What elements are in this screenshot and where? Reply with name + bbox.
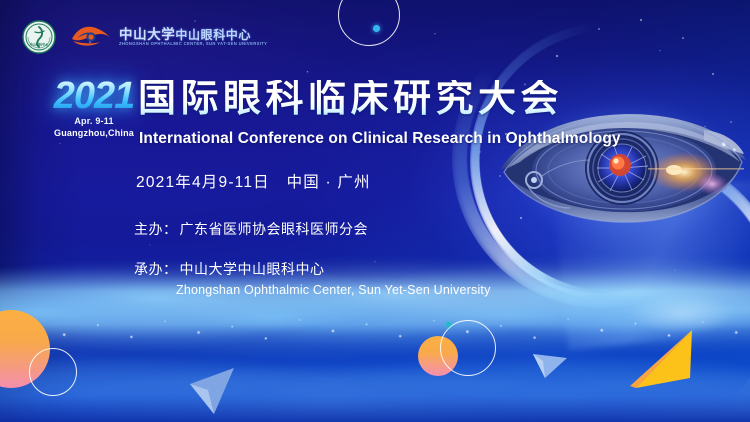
page-subtitle: International Conference on Clinical Res… <box>139 130 621 148</box>
triangle-right-yellow-icon <box>630 330 694 392</box>
year-number: 2021 <box>46 78 142 114</box>
organizer-organizer-value-en: Zhongshan Ophthalmic Center, Sun Yet-Sen… <box>176 283 491 297</box>
organizer-host-label: 主办： <box>134 219 178 239</box>
logo-bar: 中山眼科中心 中山大学中山眼科中心 ZHONGSHAN OPHTHALMIC C… <box>22 20 267 54</box>
conference-poster: 中山眼科中心 中山大学中山眼科中心 ZHONGSHAN OPHTHALMIC C… <box>0 0 750 422</box>
zoc-logo-name-cn: 中山大学中山眼科中心 <box>119 28 267 42</box>
circular-seal-emblem-icon: 中山眼科中心 <box>22 20 56 54</box>
event-date-location: 2021年4月9-11日 中国 · 广州 <box>136 170 371 192</box>
zoc-logo-text: 中山大学中山眼科中心 ZHONGSHAN OPHTHALMIC CENTER, … <box>119 28 267 47</box>
organizer-host-row: 主办： 广东省医师协会眼科医师分会 <box>134 219 491 239</box>
particle-wave-base <box>0 366 750 422</box>
eye-lens-flare-secondary <box>696 173 728 195</box>
eye-mark-icon <box>70 25 112 49</box>
bionic-eye-illustration <box>498 110 748 228</box>
dot-mid-lower-icon <box>446 322 451 327</box>
organizer-organizer-value: 中山大学中山眼科中心 <box>180 259 325 279</box>
organizer-organizer-label: 承办： <box>134 259 178 279</box>
year-place: Guangzhou,China <box>46 128 142 139</box>
particle-wave-specks <box>0 294 750 368</box>
triangle-left-blue-icon <box>190 368 240 414</box>
organizer-block: 主办： 广东省医师协会眼科医师分会 承办： 中山大学中山眼科中心 Zhongsh… <box>134 219 491 297</box>
year-block: 2021 Apr. 9-11 Guangzhou,China <box>46 78 142 139</box>
glow-right-lower <box>600 286 750 332</box>
ring-left-lower-icon <box>29 348 77 396</box>
zoc-logo-name-en: ZHONGSHAN OPHTHALMIC CENTER, SUN YAT-SEN… <box>119 42 267 47</box>
page-title: 国际眼科临床研究大会 <box>138 80 563 120</box>
dot-top-center-icon <box>373 25 380 32</box>
ring-mid-lower-icon <box>440 320 496 376</box>
particle-wave-back <box>0 336 750 422</box>
year-dates: Apr. 9-11 <box>46 116 142 127</box>
seal-logo: 中山眼科中心 <box>22 20 56 54</box>
triangle-mid-blue-icon <box>533 352 569 378</box>
circle-left-gradient-icon <box>0 310 50 388</box>
circle-mid-gradient-icon <box>418 336 458 376</box>
bionic-eye-svg <box>498 110 748 228</box>
organizer-organizer-row: 承办： 中山大学中山眼科中心 <box>134 259 491 279</box>
zoc-logo: 中山大学中山眼科中心 ZHONGSHAN OPHTHALMIC CENTER, … <box>70 25 267 49</box>
ring-top-center-icon <box>338 0 400 46</box>
organizer-host-value: 广东省医师协会眼科医师分会 <box>180 219 369 239</box>
